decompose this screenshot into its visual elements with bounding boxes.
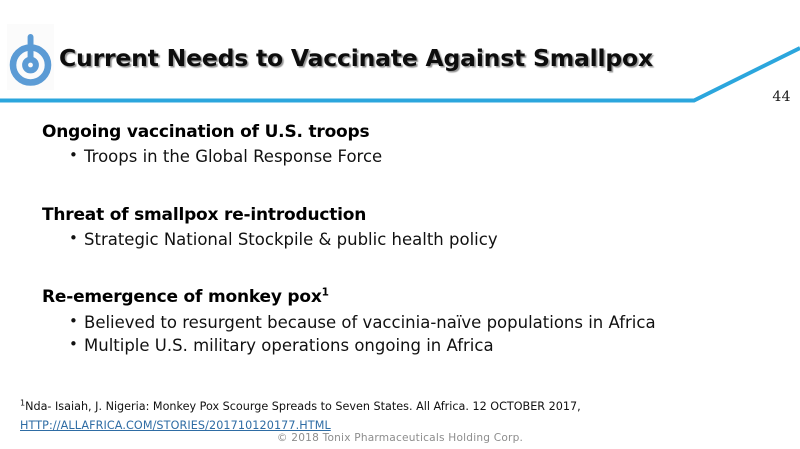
bullet-dot-icon: • bbox=[69, 334, 78, 355]
spacer-1 bbox=[42, 179, 782, 205]
bullet-dot-icon: • bbox=[69, 145, 78, 166]
topic-heading-label: Re-emergence of monkey pox bbox=[42, 287, 322, 307]
topic-block-1: Ongoing vaccination of U.S. troops •Troo… bbox=[42, 122, 782, 169]
bullet-dot-icon: • bbox=[69, 311, 78, 332]
spacer-2 bbox=[42, 261, 782, 287]
list-item-label: Strategic National Stockpile & public he… bbox=[84, 230, 498, 249]
topic-heading: Re-emergence of monkey pox1 bbox=[42, 287, 782, 308]
topic-block-3: Re-emergence of monkey pox1 •Believed to… bbox=[42, 287, 782, 357]
footnote-citation-label: Nda- Isaiah, J. Nigeria: Monkey Pox Scou… bbox=[25, 400, 581, 413]
topic-block-2: Threat of smallpox re-introduction •Stra… bbox=[42, 205, 782, 252]
topic-heading-label: Ongoing vaccination of U.S. troops bbox=[42, 122, 369, 142]
slide-canvas: Current Needs to Vaccinate Against Small… bbox=[0, 0, 800, 449]
list-item: •Troops in the Global Response Force bbox=[69, 145, 782, 168]
copyright-notice: © 2018 Tonix Pharmaceuticals Holding Cor… bbox=[0, 432, 800, 444]
logo-container bbox=[7, 24, 54, 90]
list-item: •Strategic National Stockpile & public h… bbox=[69, 228, 782, 251]
footnote-citation: 1Nda- Isaiah, J. Nigeria: Monkey Pox Sco… bbox=[20, 399, 780, 414]
list-item-label: Believed to resurgent because of vaccini… bbox=[84, 313, 656, 332]
topic-heading-superscript: 1 bbox=[322, 287, 329, 299]
list-item: •Multiple U.S. military operations ongoi… bbox=[69, 334, 782, 357]
topic-heading-label: Threat of smallpox re-introduction bbox=[42, 205, 366, 225]
topic-sub-list: •Strategic National Stockpile & public h… bbox=[42, 228, 782, 251]
page-title: Current Needs to Vaccinate Against Small… bbox=[59, 46, 719, 72]
tonix-power-circle-logo-icon bbox=[7, 24, 54, 90]
topic-heading: Threat of smallpox re-introduction bbox=[42, 205, 782, 226]
bullet-dot-icon: • bbox=[69, 228, 78, 249]
topic-heading: Ongoing vaccination of U.S. troops bbox=[42, 122, 782, 143]
list-item-label: Troops in the Global Response Force bbox=[84, 147, 382, 166]
topic-sub-list: •Troops in the Global Response Force bbox=[42, 145, 782, 168]
list-item: •Believed to resurgent because of vaccin… bbox=[69, 311, 782, 334]
page-number: 44 bbox=[772, 89, 791, 105]
slide-body: Ongoing vaccination of U.S. troops •Troo… bbox=[42, 122, 782, 367]
topic-sub-list: •Believed to resurgent because of vaccin… bbox=[42, 311, 782, 358]
footnote: 1Nda- Isaiah, J. Nigeria: Monkey Pox Sco… bbox=[20, 399, 780, 434]
list-item-label: Multiple U.S. military operations ongoin… bbox=[84, 336, 494, 355]
